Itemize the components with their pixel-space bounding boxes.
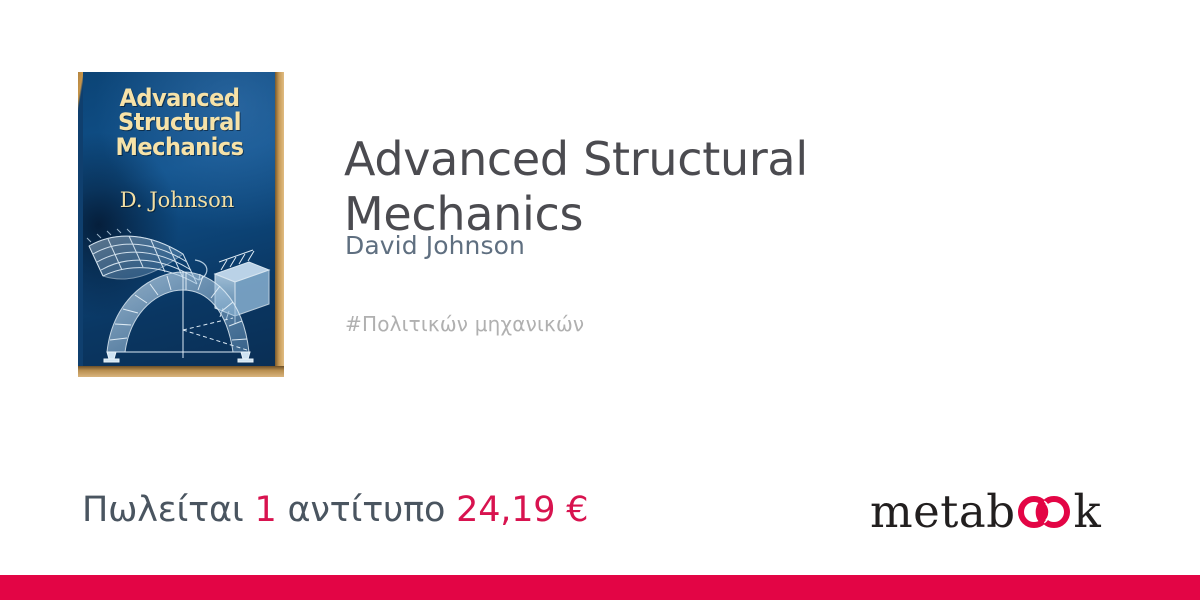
cover-engineering-diagram-icon (83, 212, 275, 366)
metabook-logo[interactable]: metab k (870, 489, 1101, 537)
bottom-accent-bar (0, 575, 1200, 600)
category-tag[interactable]: #Πολιτικών μηχανικών (345, 312, 584, 336)
book-author: David Johnson (345, 231, 525, 260)
cover-spine-edge (275, 72, 284, 377)
price-value: 24,19 € (456, 490, 588, 530)
book-cover-photo: Advanced Structural Mechanics D. Johnson (78, 72, 284, 377)
logo-text-part-1: metab (870, 489, 1016, 534)
copies-label: αντίτυπο (287, 490, 445, 530)
book-cover-front: Advanced Structural Mechanics D. Johnson (83, 72, 275, 366)
book-title: Advanced Structural Mechanics (344, 132, 984, 242)
cover-title-line-2: Structural (95, 110, 263, 134)
cover-author-text: D. Johnson (83, 188, 271, 212)
book-listing-card: Advanced Structural Mechanics D. Johnson (0, 0, 1200, 600)
availability-prefix-label: Πωλείται (82, 490, 244, 530)
cover-title-line-3: Mechanics (95, 135, 263, 159)
cover-title-line-1: Advanced (95, 86, 263, 110)
logo-text-part-2: k (1074, 489, 1102, 534)
cover-title-text: Advanced Structural Mechanics (95, 86, 263, 159)
book-cover-image[interactable]: Advanced Structural Mechanics D. Johnson (78, 72, 284, 377)
copies-count: 1 (254, 490, 276, 530)
availability-line: Πωλείται 1 αντίτυπο 24,19 € (82, 490, 588, 530)
interlocking-rings-icon (1017, 495, 1073, 525)
cover-bottom-edge (78, 366, 284, 377)
